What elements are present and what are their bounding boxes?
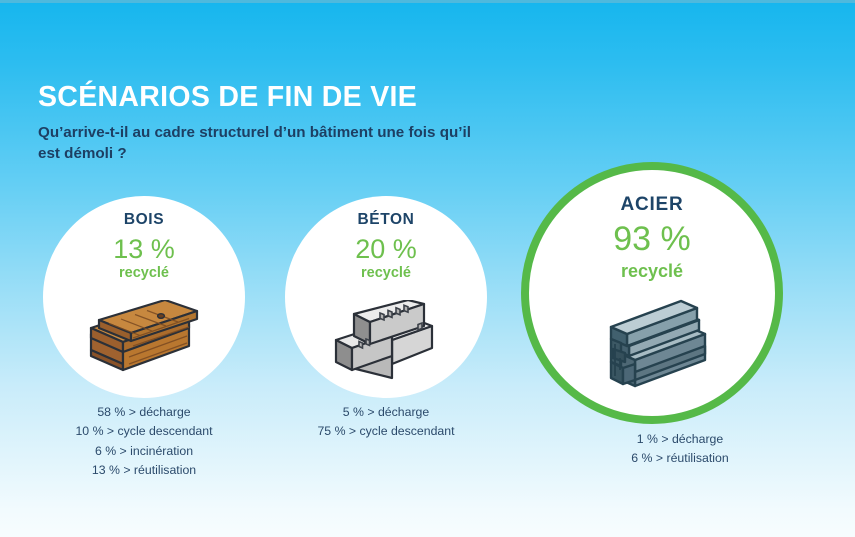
fates-list-bois: 58 % > décharge 10 % > cycle descendant … [44,403,244,481]
concrete-blocks-icon [285,300,487,380]
fates-list-acier: 1 % > décharge 6 % > réutilisation [580,430,780,469]
fate-item: 1 % > décharge [580,430,780,449]
fate-item: 6 % > incinération [44,442,244,461]
fate-item: 13 % > réutilisation [44,461,244,480]
material-recycled-label-beton: recyclé [361,265,411,281]
fate-item: 10 % > cycle descendant [44,422,244,441]
fate-item: 6 % > réutilisation [580,449,780,468]
material-text-bois: BOIS 13 % recyclé [43,212,245,281]
material-label-beton: BÉTON [358,212,415,228]
wood-planks-icon [43,300,245,372]
fates-list-beton: 5 % > décharge 75 % > cycle descendant [286,403,486,442]
page-subtitle: Qu’arrive-t-il au cadre structurel d’un … [38,123,493,164]
page-title: SCÉNARIOS DE FIN DE VIE [38,82,558,113]
material-text-beton: BÉTON 20 % recyclé [285,212,487,281]
infographic-canvas: SCÉNARIOS DE FIN DE VIE Qu’arrive-t-il a… [0,0,855,537]
material-percent-beton: 20 % [355,235,417,263]
material-label-acier: ACIER [620,195,683,214]
steel-beams-icon [529,298,775,398]
fate-item: 75 % > cycle descendant [286,422,486,441]
material-percent-bois: 13 % [113,235,175,263]
material-recycled-label-bois: recyclé [119,265,169,281]
fate-item: 5 % > décharge [286,403,486,422]
material-circle-acier[interactable]: ACIER 93 % recyclé [521,162,783,424]
material-label-bois: BOIS [124,212,164,228]
material-circle-bois[interactable]: BOIS 13 % recyclé [43,196,245,398]
material-text-acier: ACIER 93 % recyclé [529,195,775,282]
fate-item: 58 % > décharge [44,403,244,422]
material-percent-acier: 93 % [613,222,691,258]
header: SCÉNARIOS DE FIN DE VIE Qu’arrive-t-il a… [38,82,558,164]
material-recycled-label-acier: recyclé [621,261,683,282]
top-rule [0,0,855,3]
material-circle-beton[interactable]: BÉTON 20 % recyclé [285,196,487,398]
